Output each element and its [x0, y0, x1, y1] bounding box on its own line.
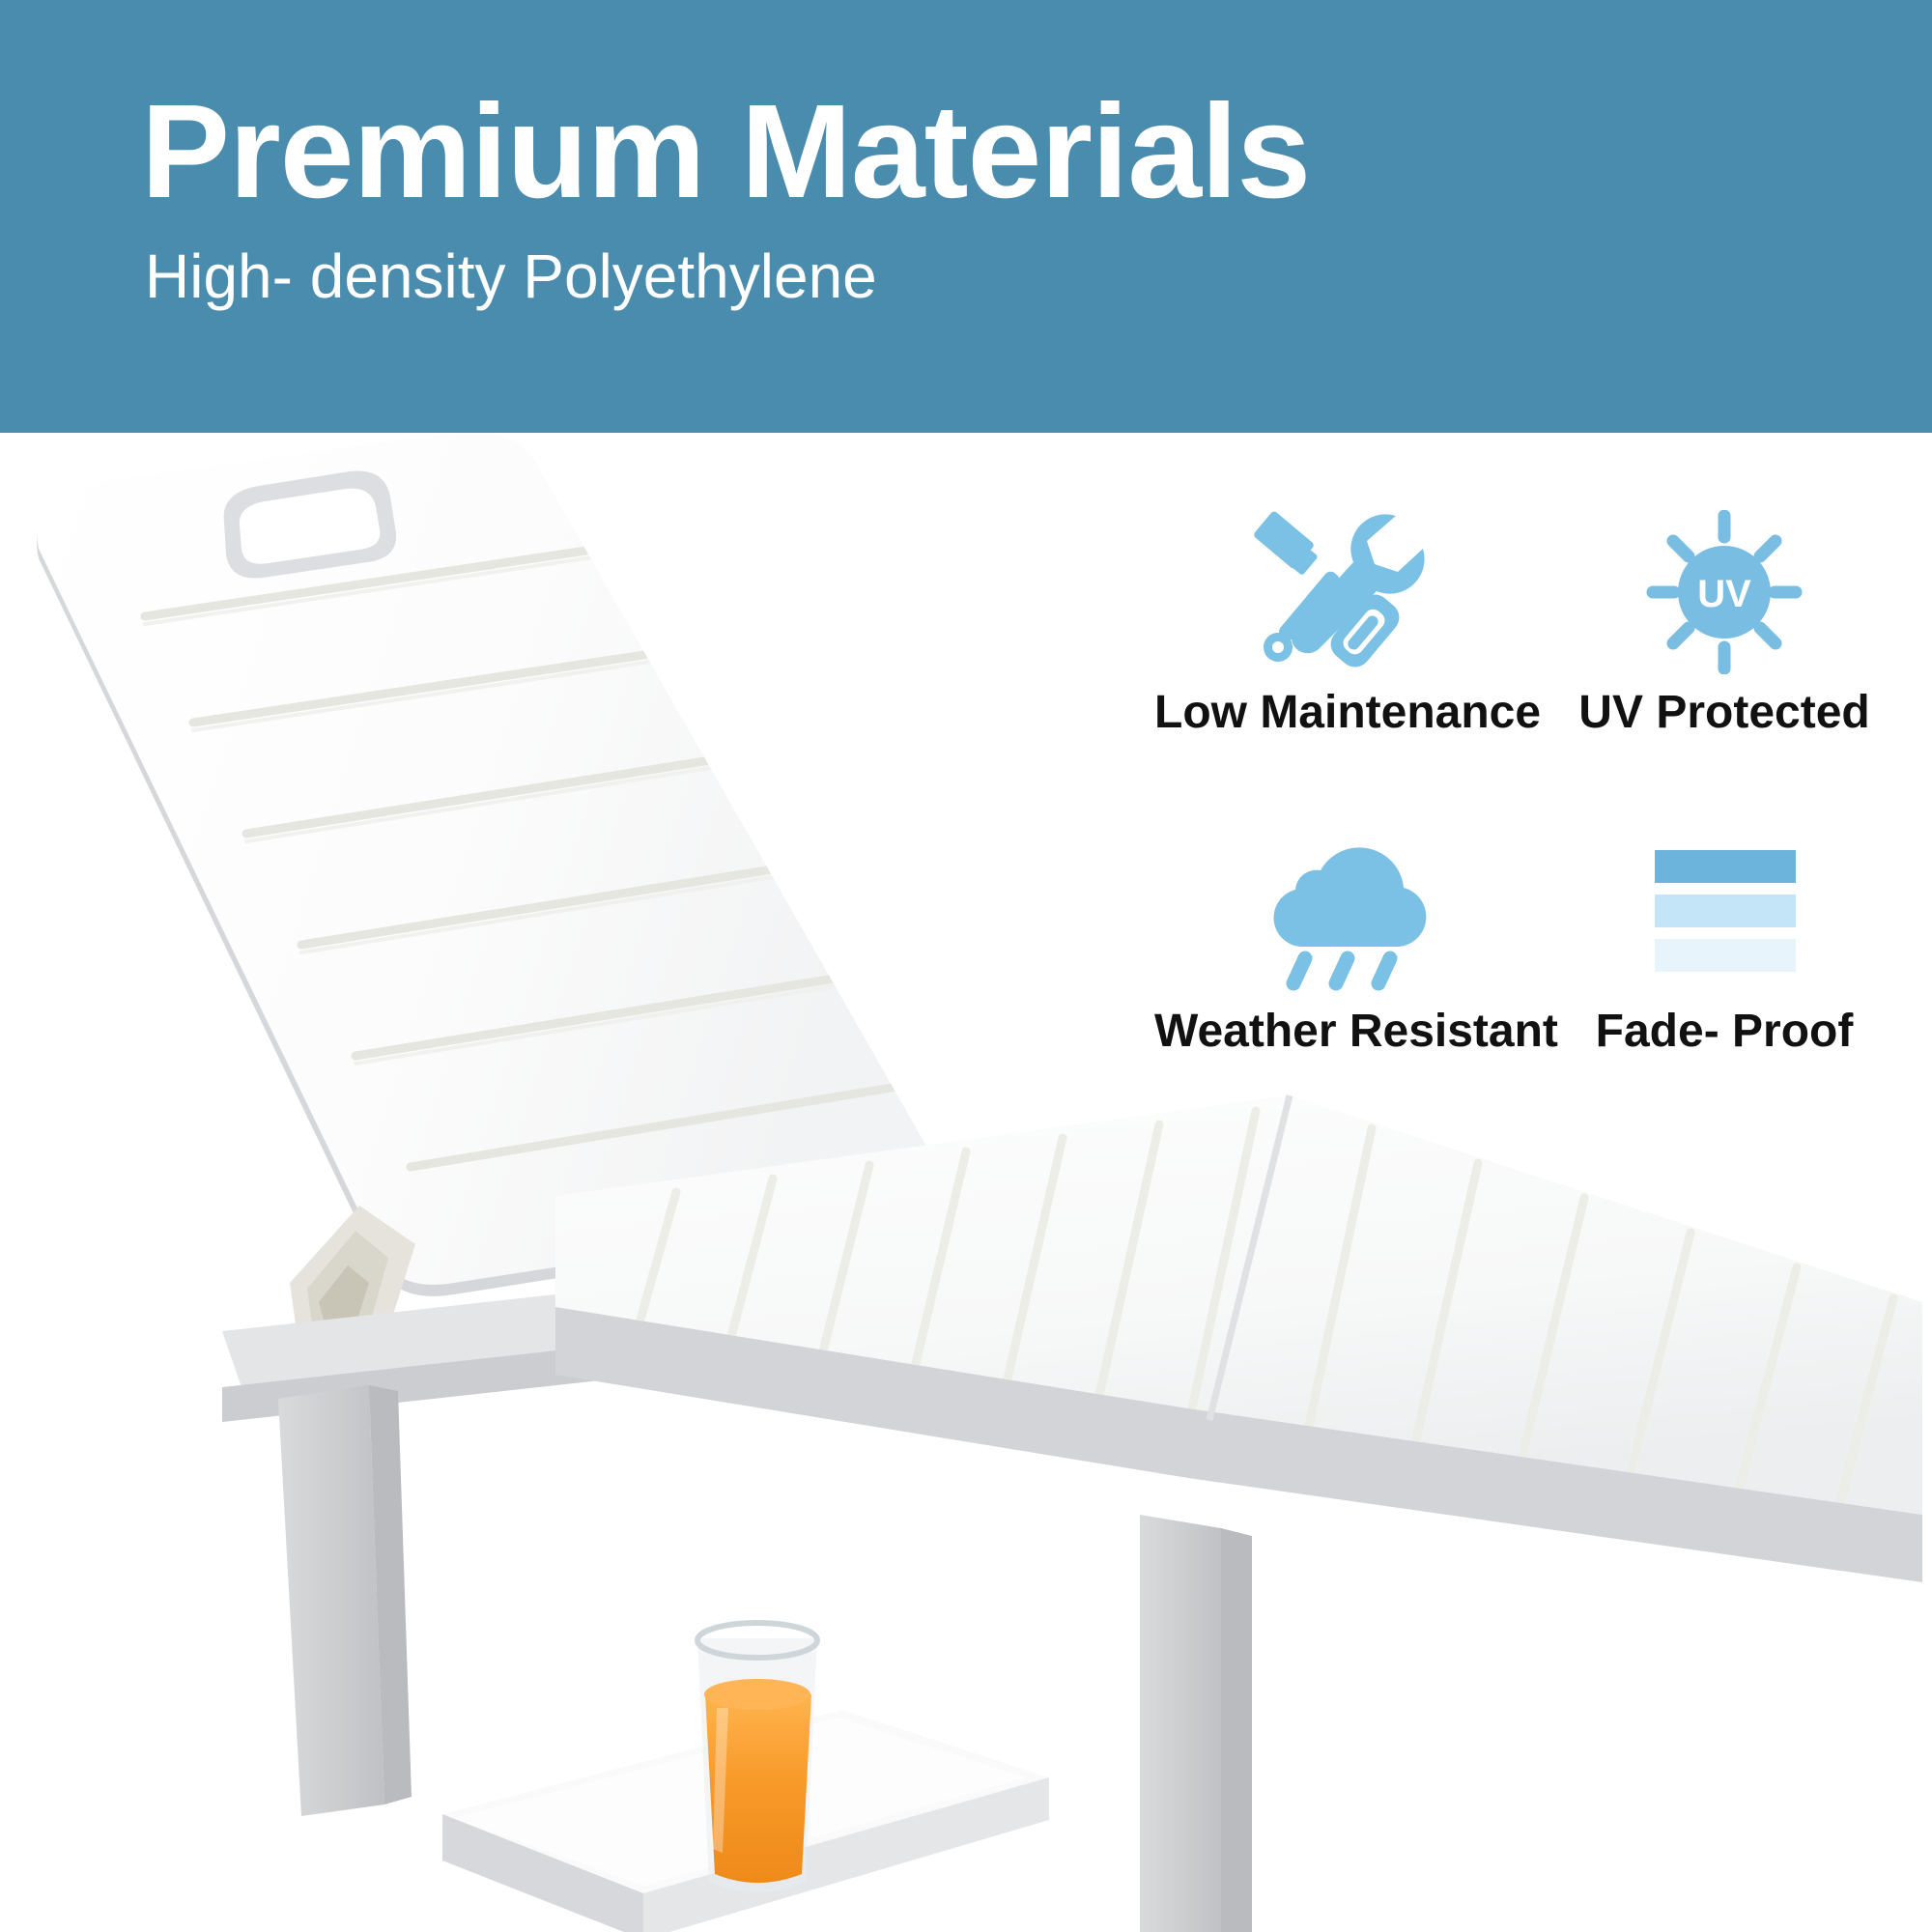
page-title: Premium Materials — [141, 85, 1310, 218]
fade-bars-icon — [1536, 821, 1913, 1000]
fade-bar-3 — [1655, 939, 1796, 972]
fade-bar-1 — [1655, 850, 1796, 883]
feature-label: Low Maintenance — [1154, 686, 1531, 739]
feature-low-maintenance[interactable]: Low Maintenance — [1154, 502, 1531, 792]
orange-juice-glass — [697, 1623, 817, 1892]
feature-label: Fade- Proof — [1536, 1005, 1913, 1058]
product-feature-banner: Premium Materials High- density Polyethy… — [0, 0, 1932, 1932]
fade-bar-2 — [1655, 895, 1796, 927]
seat-panel — [555, 1095, 1922, 1607]
page-subtitle: High- density Polyethylene — [145, 245, 877, 307]
rain-cloud-icon — [1154, 821, 1531, 1000]
feature-grid: Low Maintenance UV — [1154, 502, 1918, 1121]
feature-weather-resistant[interactable]: Weather Resistant — [1154, 821, 1531, 1111]
tools-wrench-screwdriver-icon — [1154, 502, 1531, 681]
feature-uv-protected[interactable]: UV UV Protected — [1536, 502, 1913, 792]
feature-fade-proof[interactable]: Fade- Proof — [1536, 821, 1913, 1111]
uv-badge-text: UV — [1697, 573, 1751, 615]
feature-label: UV Protected — [1536, 686, 1913, 739]
feature-label: Weather Resistant — [1154, 1005, 1531, 1058]
sun-uv-icon: UV — [1536, 502, 1913, 681]
header-band: Premium Materials High- density Polyethy… — [0, 0, 1932, 433]
